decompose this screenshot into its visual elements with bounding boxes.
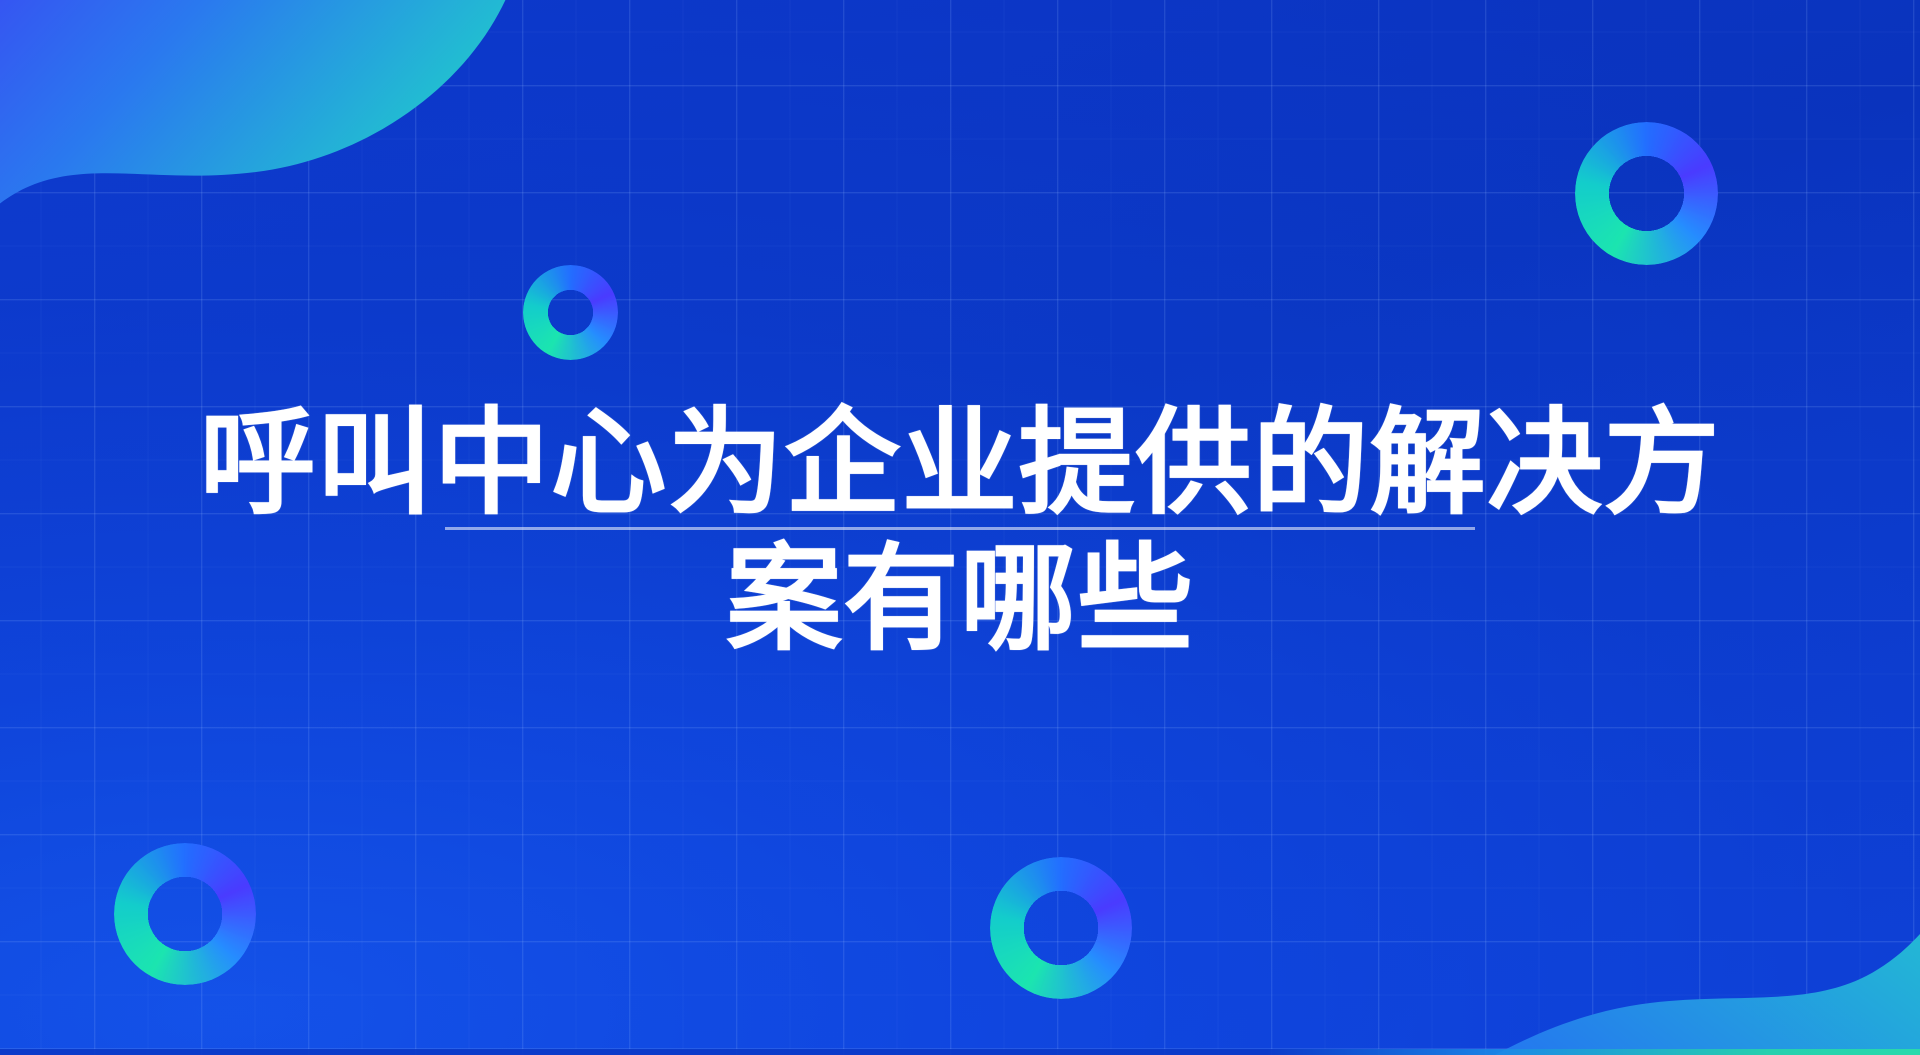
decorative-ring-icon [523,265,618,360]
title-underline [445,527,1475,530]
title-underline-secondary [704,659,1216,662]
bottom-edge-accent [0,1049,1920,1055]
title-line-1: 呼叫中心为企业提供的解决方 [0,398,1920,534]
decorative-ring-icon [1575,122,1718,265]
title-line-2-text: 案有哪些 [726,532,1194,667]
decorative-ring-icon [114,843,256,985]
page-title: 呼叫中心为企业提供的解决方 案有哪些 [0,398,1920,666]
decorative-ring-icon [990,857,1132,999]
title-line-1-text: 呼叫中心为企业提供的解决方 [200,396,1721,531]
title-line-2: 案有哪些 [0,534,1920,666]
banner-canvas: 呼叫中心为企业提供的解决方 案有哪些 [0,0,1920,1055]
